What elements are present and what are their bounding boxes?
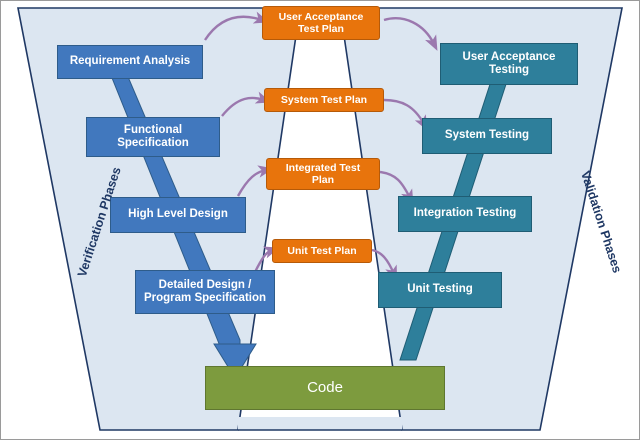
validation-phase-user-acceptance-testing[interactable]: User Acceptance Testing	[440, 43, 578, 85]
validation-phase-unit-testing[interactable]: Unit Testing	[378, 272, 502, 308]
validation-phase-label: System Testing	[445, 129, 529, 142]
test-plan-label: Integrated Test Plan	[286, 162, 360, 186]
verification-phase-label: Functional Specification	[117, 124, 189, 150]
validation-phase-label: Integration Testing	[414, 207, 517, 220]
test-plan-label: User Acceptance Test Plan	[279, 11, 364, 35]
verification-phase-label: Requirement Analysis	[70, 55, 190, 68]
validation-phase-label: Unit Testing	[407, 283, 473, 296]
code-label: Code	[307, 379, 343, 396]
test-plan-unit[interactable]: Unit Test Plan	[272, 239, 372, 263]
verification-phase-requirement-analysis[interactable]: Requirement Analysis	[57, 45, 203, 79]
test-plan-label: Unit Test Plan	[287, 245, 356, 257]
validation-phase-system-testing[interactable]: System Testing	[422, 118, 552, 154]
verification-phase-label: High Level Design	[128, 208, 228, 221]
verification-phase-functional-specification[interactable]: Functional Specification	[86, 117, 220, 157]
implementation-code-box[interactable]: Code	[205, 366, 445, 410]
verification-phase-label: Detailed Design / Program Specification	[144, 279, 266, 305]
test-plan-label: System Test Plan	[281, 94, 367, 106]
validation-phase-label: User Acceptance Testing	[463, 51, 556, 77]
verification-phase-detailed-design[interactable]: Detailed Design / Program Specification	[135, 270, 275, 314]
validation-phase-integration-testing[interactable]: Integration Testing	[398, 196, 532, 232]
v-model-diagram: Requirement Analysis Functional Specific…	[0, 0, 640, 440]
test-plan-user-acceptance[interactable]: User Acceptance Test Plan	[262, 6, 380, 40]
verification-phase-high-level-design[interactable]: High Level Design	[110, 197, 246, 233]
test-plan-integrated[interactable]: Integrated Test Plan	[266, 158, 380, 190]
panel-bottom-bridge	[238, 418, 402, 430]
test-plan-system[interactable]: System Test Plan	[264, 88, 384, 112]
